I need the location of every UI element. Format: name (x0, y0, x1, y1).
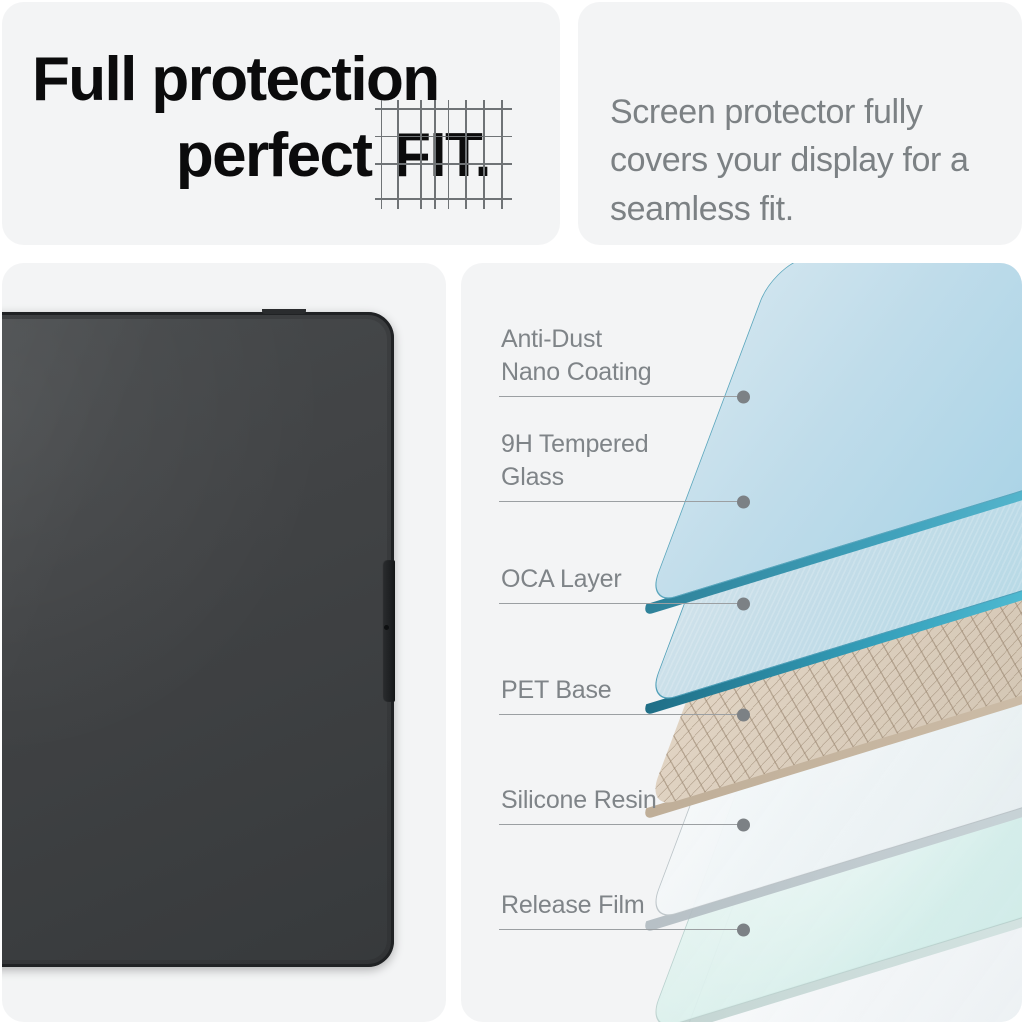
headline-line-2: perfect FIT. (32, 118, 552, 194)
leader-line-release-film (499, 929, 739, 930)
leader-dot-icon (737, 923, 750, 936)
callout-nano-coating: Anti-Dust Nano Coating (499, 323, 739, 397)
headline-line-1: Full protection (32, 42, 552, 118)
leader-dot-icon (737, 597, 750, 610)
leader-line-oca-layer (499, 603, 739, 604)
tablet-side-sensor-dot (384, 625, 389, 630)
leader-line-pet-base (499, 714, 739, 715)
leader-dot-icon (737, 818, 750, 831)
callout-label-oca-layer: OCA Layer (501, 563, 739, 596)
layer-breakdown-panel: Anti-Dust Nano Coating 9H Tempered Glass… (461, 263, 1022, 1022)
headline-line-2-prefix: perfect (176, 121, 387, 190)
callout-label-pet-base: PET Base (501, 674, 739, 707)
leader-dot-icon (737, 390, 750, 403)
leader-dot-icon (737, 495, 750, 508)
callout-oca-layer: OCA Layer (499, 563, 739, 604)
callout-release-film: Release Film (499, 889, 739, 930)
leader-dot-icon (737, 708, 750, 721)
product-infographic: Full protection perfect FIT. (0, 0, 1024, 1024)
callout-silicone-resin: Silicone Resin (499, 784, 739, 825)
callout-label-nano-coating: Anti-Dust Nano Coating (501, 323, 739, 389)
fit-word: FIT. (393, 121, 490, 190)
callout-tempered-glass: 9H Tempered Glass (499, 428, 739, 502)
tablet-device (2, 312, 394, 967)
tablet-top-antenna-band (262, 309, 306, 314)
callout-label-silicone-resin: Silicone Resin (501, 784, 739, 817)
fit-emphasis: FIT. (387, 118, 496, 194)
leader-line-silicone-resin (499, 824, 739, 825)
tablet-bezel (2, 312, 394, 967)
leader-line-tempered-glass (499, 501, 739, 502)
subheading-text: Screen protector fully covers your displ… (610, 88, 1000, 233)
headline-panel: Full protection perfect FIT. (2, 2, 560, 245)
callout-label-tempered-glass: 9H Tempered Glass (501, 428, 739, 494)
subheading-panel: Screen protector fully covers your displ… (578, 2, 1022, 245)
device-panel (2, 263, 446, 1022)
page-title: Full protection perfect FIT. (32, 42, 552, 193)
tablet-pen-magnet-recess (382, 560, 395, 702)
leader-line-nano-coating (499, 396, 739, 397)
callout-pet-base: PET Base (499, 674, 739, 715)
callout-label-release-film: Release Film (501, 889, 739, 922)
